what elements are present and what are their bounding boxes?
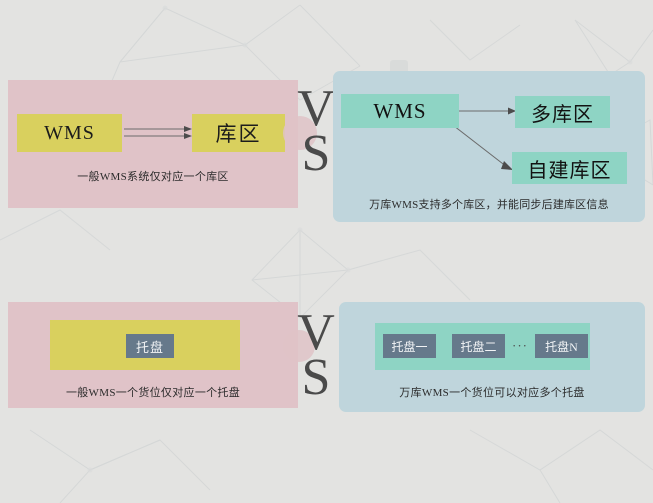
node-wms-general: WMS: [17, 114, 122, 152]
caption-general-wms-zone: 一般WMS系统仅对应一个库区: [8, 168, 298, 184]
vs-letter-s: S: [302, 132, 331, 177]
diagram-canvas: WMS 库区 一般WMS系统仅对应一个库区 V S WMS 多库区 自建库区 万…: [0, 0, 653, 503]
node-self-built-zone: 自建库区: [512, 152, 627, 184]
node-multi-zone: 多库区: [515, 96, 610, 128]
node-wms-wanku: WMS: [341, 94, 459, 128]
vs-letter-s: S: [302, 356, 331, 401]
caption-general-wms-pallet: 一般WMS一个货位仅对应一个托盘: [8, 384, 298, 400]
node-pallet-1: 托盘一: [383, 334, 436, 358]
vs-separator-top: V S: [295, 72, 337, 192]
caption-wanku-wms-pallet: 万库WMS一个货位可以对应多个托盘: [339, 384, 645, 400]
node-pallet-2: 托盘二: [452, 334, 505, 358]
node-pallet-single: 托盘: [126, 334, 174, 358]
arrow-single-relation: [124, 124, 192, 142]
node-pallet-n: 托盘N: [535, 334, 588, 358]
vs-separator-bottom: V S: [295, 296, 337, 416]
caption-wanku-wms-zone: 万库WMS支持多个库区，并能同步后建库区信息: [333, 196, 645, 212]
node-zone-single: 库区: [192, 114, 285, 152]
pallet-ellipsis: ···: [505, 334, 535, 358]
